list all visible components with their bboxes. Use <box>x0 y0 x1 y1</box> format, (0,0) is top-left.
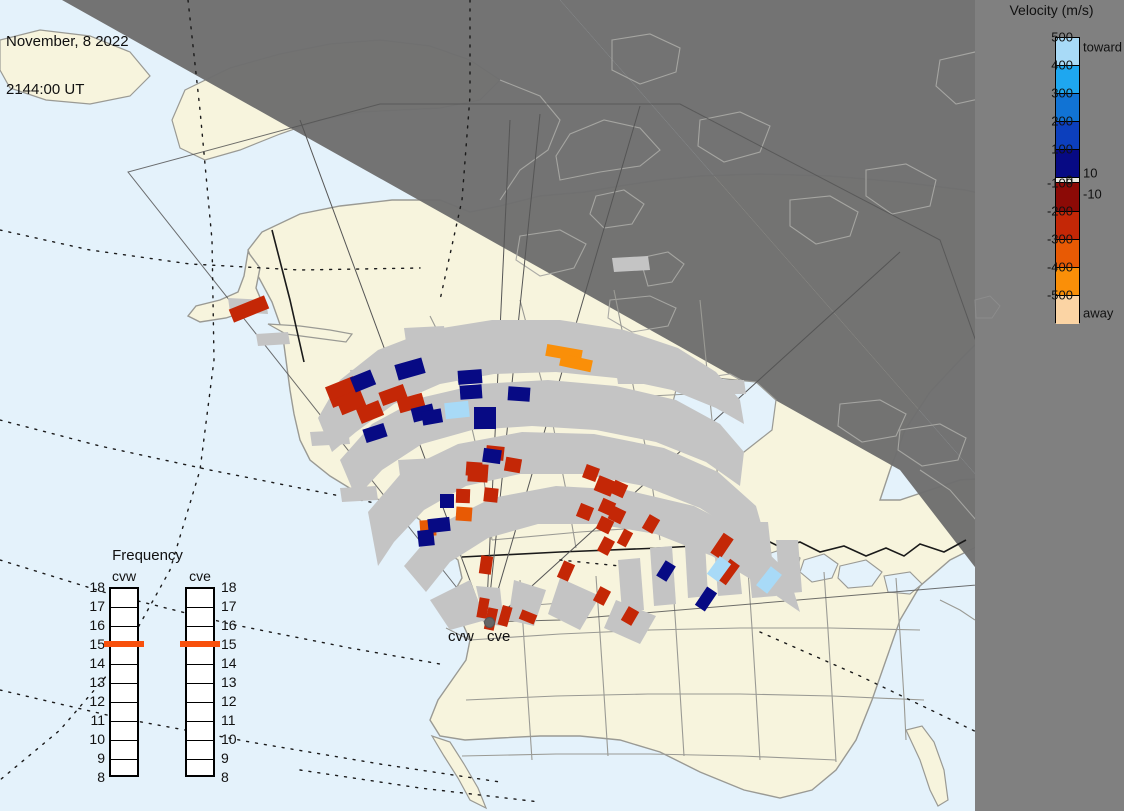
timestamp-title: November, 8 2022 2144:00 UT <box>6 2 129 130</box>
frequency-tick-right-12: 12 <box>221 693 245 709</box>
frequency-tick-right-18: 18 <box>221 579 245 595</box>
frequency-segment <box>111 722 137 741</box>
velocity-minus10-label: -10 <box>1083 186 1102 201</box>
frequency-tick-right-14: 14 <box>221 655 245 671</box>
velocity-tick-300: 300 <box>1051 86 1073 101</box>
frequency-segment <box>187 722 213 741</box>
frequency-segment <box>111 703 137 722</box>
frequency-tick-left-18: 18 <box>81 579 105 595</box>
frequency-tick-left-15: 15 <box>81 636 105 652</box>
frequency-segment <box>187 760 213 779</box>
frequency-segment <box>111 665 137 684</box>
frequency-tick-right-10: 10 <box>221 731 245 747</box>
frequency-segment <box>111 760 137 779</box>
velocity-cell <box>508 386 531 402</box>
frequency-segment <box>187 646 213 665</box>
radar-site-marker <box>484 617 495 628</box>
frequency-segment <box>187 684 213 703</box>
velocity-tick--200: -200 <box>1047 203 1073 218</box>
velocity-cell <box>483 487 498 502</box>
frequency-legend-title: Frequency <box>85 547 210 564</box>
velocity-cell <box>467 463 488 482</box>
frequency-tick-right-8: 8 <box>221 769 245 785</box>
frequency-tick-left-12: 12 <box>81 693 105 709</box>
velocity-plus10-label: 10 <box>1083 165 1097 180</box>
velocity-cell <box>458 369 483 385</box>
radar-site-label-cvw: cvw <box>448 628 474 645</box>
frequency-legend: Frequency cvw cve 18171615141312111098 1… <box>85 547 245 787</box>
velocity-tick--400: -400 <box>1047 259 1073 274</box>
frequency-tick-left-11: 11 <box>81 712 105 728</box>
frequency-tick-left-17: 17 <box>81 598 105 614</box>
title-time: 2144:00 UT <box>6 82 129 98</box>
velocity-cell <box>417 529 435 547</box>
frequency-tick-right-9: 9 <box>221 750 245 766</box>
frequency-marker-cve <box>180 641 220 647</box>
frequency-segment <box>111 684 137 703</box>
frequency-tick-right-11: 11 <box>221 712 245 728</box>
velocity-legend: Velocity (m/s) 5004003002001000-100-200-… <box>975 0 1124 811</box>
velocity-cell <box>440 494 454 508</box>
frequency-tick-left-14: 14 <box>81 655 105 671</box>
velocity-tick--100: -100 <box>1047 175 1073 190</box>
velocity-cell <box>504 457 522 474</box>
velocity-tick--300: -300 <box>1047 231 1073 246</box>
velocity-cell <box>444 401 470 419</box>
frequency-tick-left-13: 13 <box>81 674 105 690</box>
frequency-tick-left-8: 8 <box>81 769 105 785</box>
velocity-cell <box>482 448 502 464</box>
frequency-segment <box>111 646 137 665</box>
frequency-segment <box>111 608 137 627</box>
frequency-segment <box>111 741 137 760</box>
velocity-cell <box>460 384 483 400</box>
frequency-segment <box>187 741 213 760</box>
velocity-cell <box>456 506 473 521</box>
frequency-marker-cvw <box>104 641 144 647</box>
frequency-column-name-cvw: cvw <box>102 568 146 584</box>
frequency-tick-right-15: 15 <box>221 636 245 652</box>
frequency-tick-left-9: 9 <box>81 750 105 766</box>
frequency-tick-right-17: 17 <box>221 598 245 614</box>
velocity-away-label: away <box>1083 306 1113 321</box>
frequency-tick-left-10: 10 <box>81 731 105 747</box>
frequency-tick-left-16: 16 <box>81 617 105 633</box>
velocity-legend-title: Velocity (m/s) <box>979 2 1124 18</box>
velocity-tick-200: 200 <box>1051 114 1073 129</box>
velocity-toward-label: toward <box>1083 40 1122 55</box>
frequency-segment <box>187 665 213 684</box>
velocity-tick-100: 100 <box>1051 142 1073 157</box>
frequency-tick-right-16: 16 <box>221 617 245 633</box>
velocity-cell <box>474 407 496 429</box>
velocity-cell <box>479 555 493 574</box>
radar-map-screenshot: November, 8 2022 2144:00 UT cvw cve Velo… <box>0 0 1124 811</box>
frequency-column-name-cve: cve <box>178 568 222 584</box>
frequency-bar-cve <box>185 587 215 777</box>
velocity-tick--500: -500 <box>1047 287 1073 302</box>
frequency-segment <box>111 589 137 608</box>
frequency-segment <box>187 608 213 627</box>
velocity-tick-400: 400 <box>1051 58 1073 73</box>
radar-site-label-cve: cve <box>487 628 510 645</box>
frequency-segment <box>187 703 213 722</box>
velocity-cell <box>456 489 470 503</box>
title-date: November, 8 2022 <box>6 34 129 50</box>
velocity-tick-500: 500 <box>1051 30 1073 45</box>
frequency-tick-right-13: 13 <box>221 674 245 690</box>
frequency-bar-cvw <box>109 587 139 777</box>
frequency-segment <box>187 589 213 608</box>
